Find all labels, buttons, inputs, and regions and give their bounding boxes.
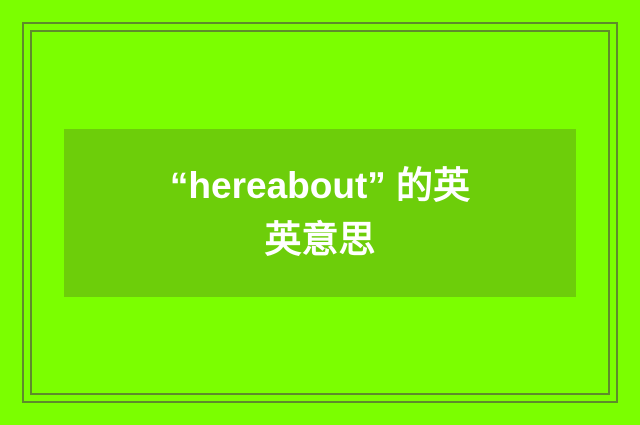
banner-image: “hereabout” 的英英意思 [0,0,640,425]
title-panel: “hereabout” 的英英意思 [64,129,576,297]
banner-title: “hereabout” 的英英意思 [155,159,485,267]
